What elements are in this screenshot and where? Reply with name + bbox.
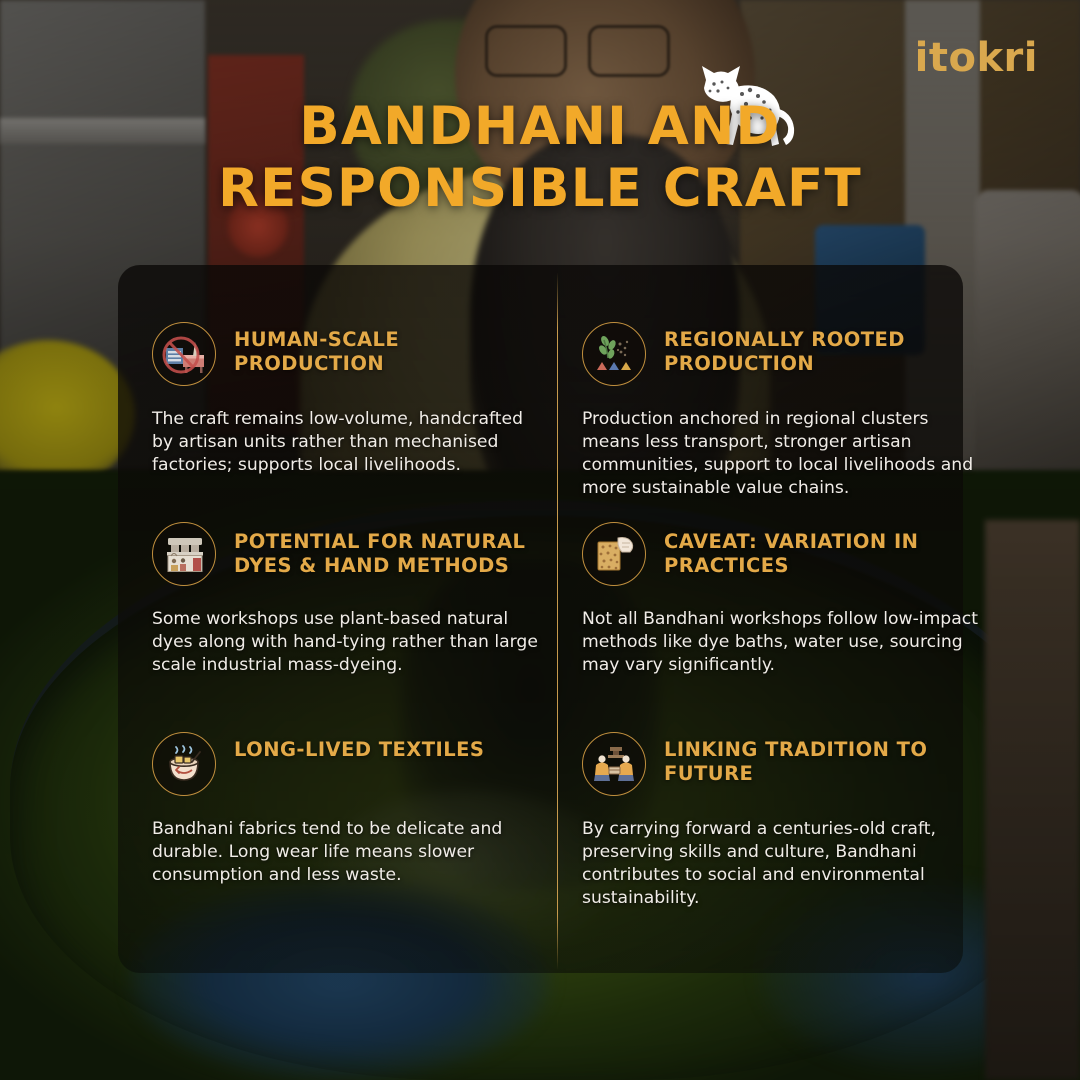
card-long-lived-textiles: LONG-LIVED TEXTILES Bandhani fabrics ten…	[152, 732, 544, 887]
page-title-line2: RESPONSIBLE CRAFT	[130, 158, 950, 220]
card-linking-tradition-to-future: LINKING TRADITION TO FUTURE By carrying …	[582, 732, 982, 910]
card-title: LONG-LIVED TEXTILES	[234, 732, 484, 762]
card-header: HUMAN-SCALE PRODUCTION	[152, 322, 544, 386]
card-body: Some workshops use plant-based natural d…	[152, 608, 544, 677]
hand-holding-fabric-icon	[582, 522, 646, 586]
card-caveat-variation-in-practices: CAVEAT: VARIATION IN PRACTICES Not all B…	[582, 522, 982, 677]
card-title: CAVEAT: VARIATION IN PRACTICES	[664, 522, 982, 579]
card-regionally-rooted-production: REGIONALLY ROOTED PRODUCTION Production …	[582, 322, 982, 500]
artisans-at-work-icon	[582, 732, 646, 796]
column-divider	[557, 272, 558, 970]
dye-pot-icon	[152, 732, 216, 796]
card-header: REGIONALLY ROOTED PRODUCTION	[582, 322, 982, 386]
card-potential-for-natural-dyes: POTENTIAL FOR NATURAL DYES & HAND METHOD…	[152, 522, 544, 677]
card-title: HUMAN-SCALE PRODUCTION	[234, 322, 544, 377]
card-body: Production anchored in regional clusters…	[582, 408, 982, 500]
card-body: By carrying forward a centuries-old craf…	[582, 818, 982, 910]
page-title-line1: BANDHANI AND	[130, 96, 950, 158]
card-body: Bandhani fabrics tend to be delicate and…	[152, 818, 544, 887]
card-title: POTENTIAL FOR NATURAL DYES & HAND METHOD…	[234, 522, 544, 579]
card-body: The craft remains low-volume, handcrafte…	[152, 408, 544, 477]
natural-dye-plants-icon	[582, 322, 646, 386]
card-header: CAVEAT: VARIATION IN PRACTICES	[582, 522, 982, 586]
card-title: LINKING TRADITION TO FUTURE	[664, 732, 982, 787]
card-title: REGIONALLY ROOTED PRODUCTION	[664, 322, 982, 377]
itokri-logo[interactable]: itokri	[915, 38, 1038, 78]
card-header: POTENTIAL FOR NATURAL DYES & HAND METHOD…	[152, 522, 544, 586]
page-title: BANDHANI AND RESPONSIBLE CRAFT	[0, 96, 1080, 220]
card-human-scale-production: HUMAN-SCALE PRODUCTION The craft remains…	[152, 322, 544, 477]
card-header: LINKING TRADITION TO FUTURE	[582, 732, 982, 796]
card-header: LONG-LIVED TEXTILES	[152, 732, 544, 796]
card-body: Not all Bandhani workshops follow low-im…	[582, 608, 982, 677]
no-factory-icon	[152, 322, 216, 386]
artisan-workshop-icon	[152, 522, 216, 586]
